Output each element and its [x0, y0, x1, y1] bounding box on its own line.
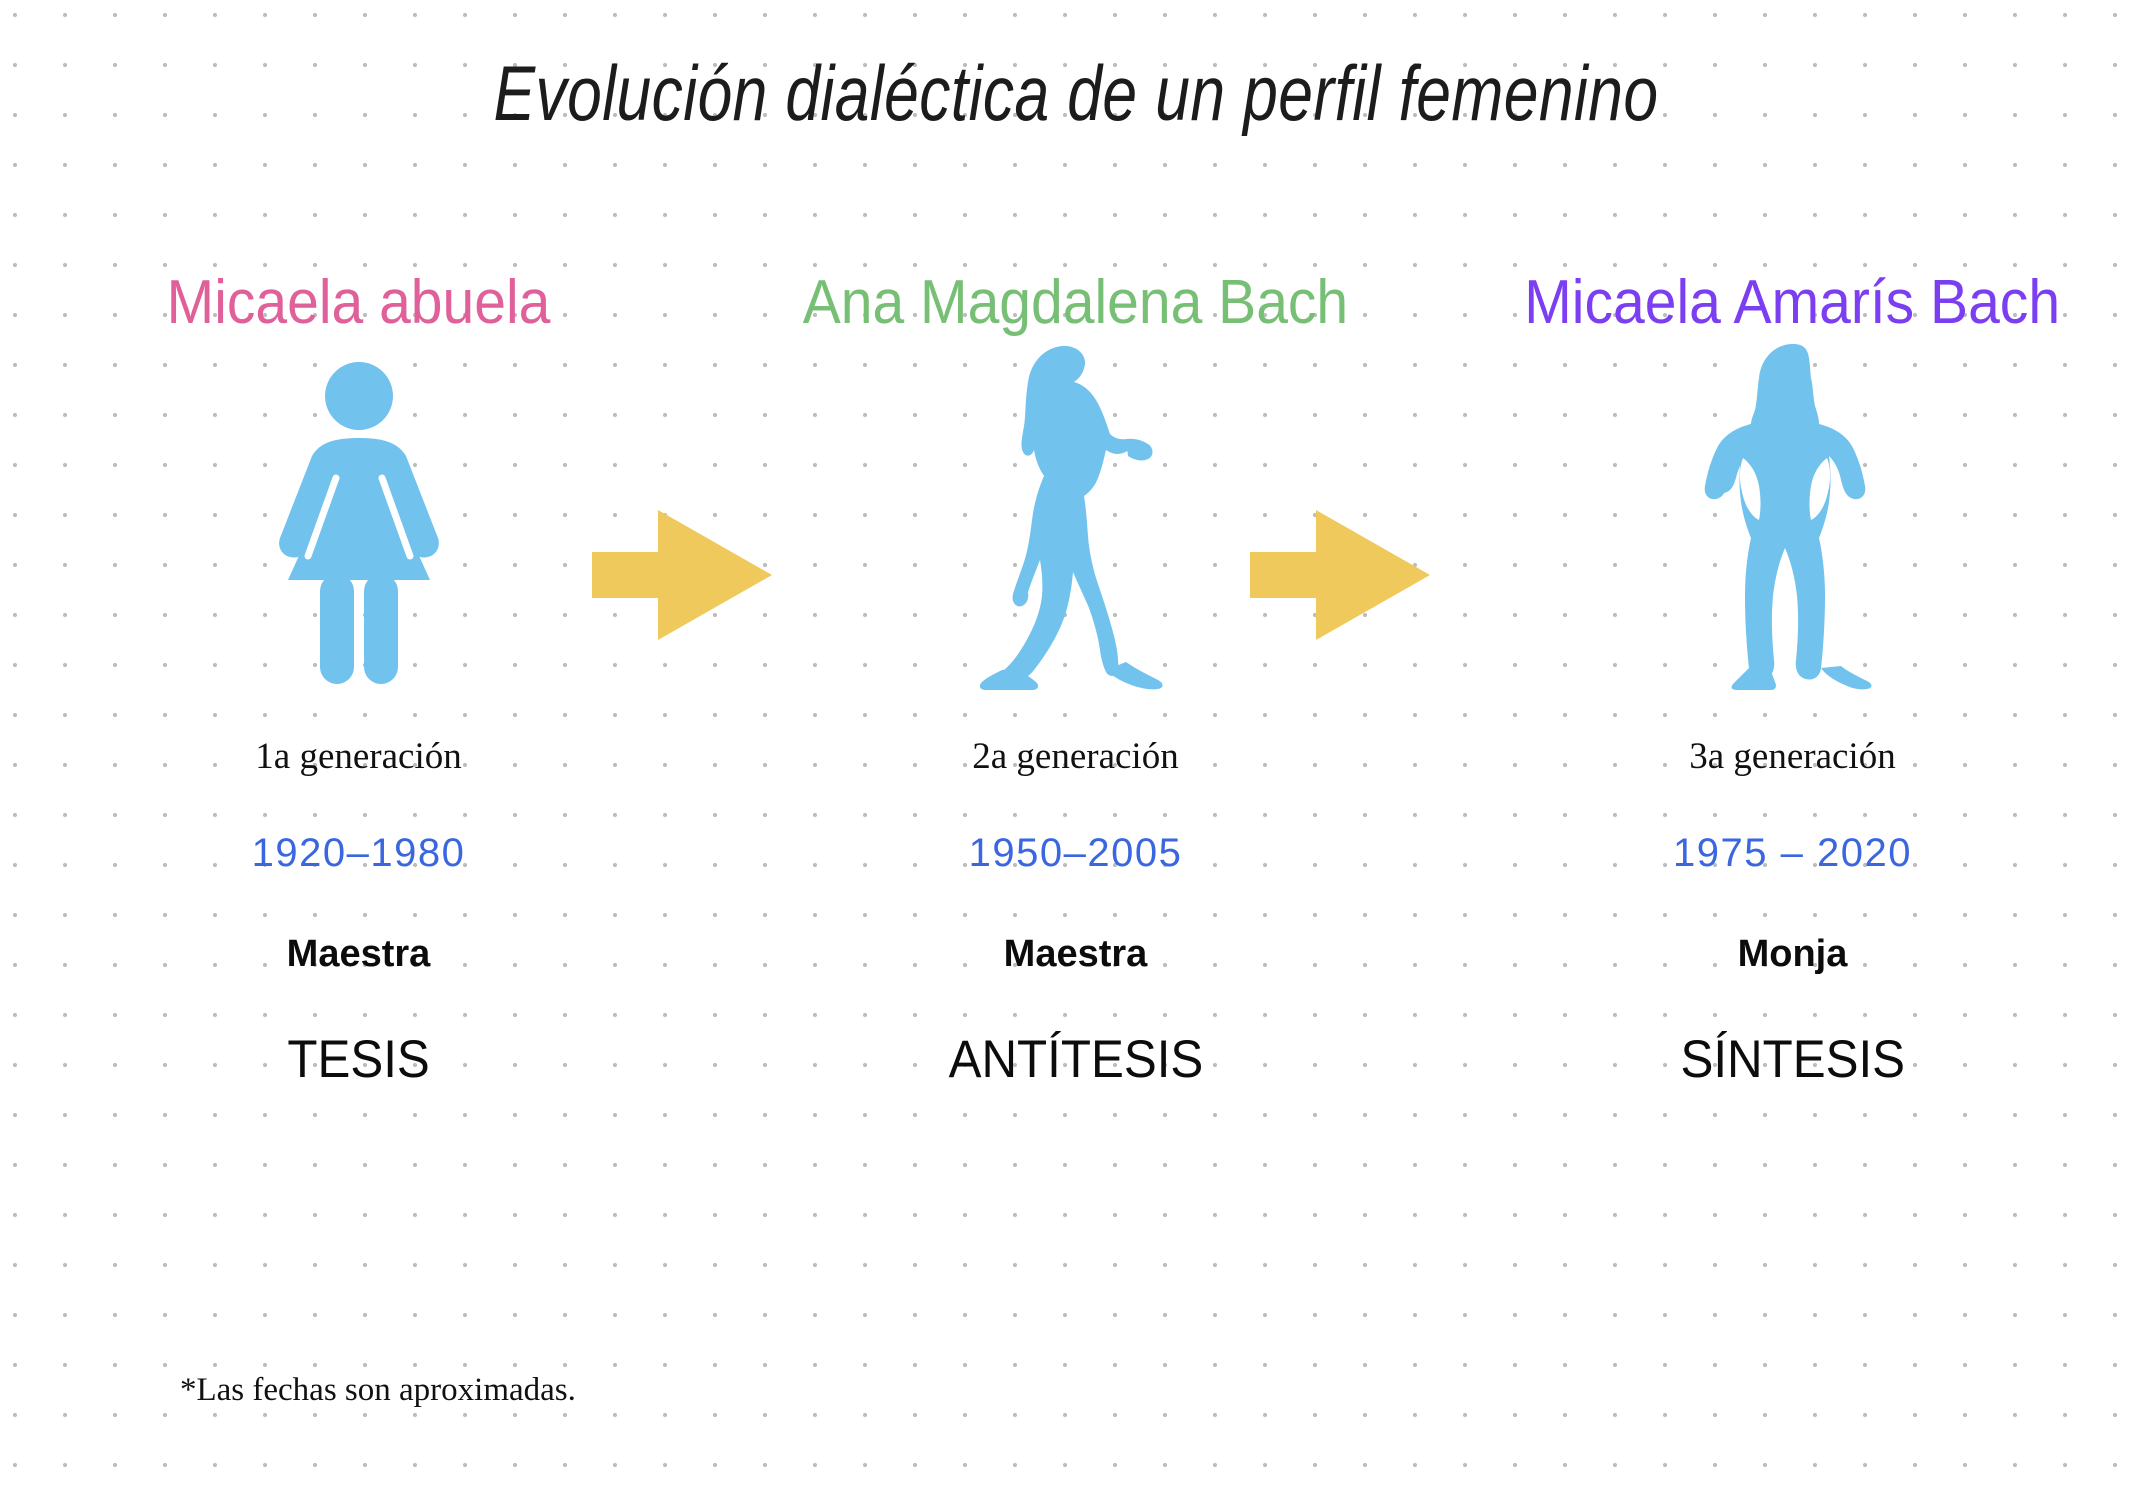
- dialectic-label-2: ANTÍTESIS: [948, 1033, 1203, 1086]
- dialectic-label-3: SÍNTESIS: [1680, 1033, 1905, 1086]
- right-arrow-icon: [592, 510, 772, 640]
- transition-arrow-1: [592, 510, 772, 645]
- meta-block-1: 1a generación 1920–1980 Maestra TESIS: [252, 738, 466, 1086]
- generation-column-1: Micaela abuela 1a generación: [0, 272, 717, 1086]
- transition-arrow-2: [1250, 510, 1430, 645]
- person-name-3: Micaela Amarís Bach: [1525, 272, 2061, 334]
- generation-column-2: Ana Magdalena Bach 2a generación 1950–20…: [717, 272, 1434, 1086]
- dialectic-label-1: TESIS: [287, 1033, 429, 1086]
- right-arrow-icon: [1250, 510, 1430, 640]
- figure-slot-2: [976, 360, 1176, 690]
- occupation-label-1: Maestra: [287, 935, 431, 973]
- occupation-label-2: Maestra: [1004, 935, 1148, 973]
- years-label-3: 1975 – 2020: [1673, 833, 1912, 873]
- figure-slot-3: [1693, 360, 1893, 690]
- generation-label-3: 3a generación: [1689, 738, 1895, 775]
- meta-block-3: 3a generación 1975 – 2020 Monja SÍNTESIS: [1672, 738, 1914, 1086]
- person-name-2: Ana Magdalena Bach: [803, 272, 1348, 334]
- generation-label-1: 1a generación: [255, 738, 461, 775]
- years-label-1: 1920–1980: [252, 833, 466, 873]
- years-label-2: 1950–2005: [969, 833, 1183, 873]
- footnote: *Las fechas son aproximadas.: [180, 1372, 576, 1409]
- figure-slot-1: [244, 360, 474, 690]
- standing-woman-hands-on-hips-silhouette-icon: [1693, 340, 1893, 690]
- infographic-poster: Evolución dialéctica de un perfil femeni…: [0, 0, 2152, 1502]
- person-name-1: Micaela abuela: [167, 272, 551, 334]
- walking-woman-silhouette-icon: [976, 340, 1176, 690]
- standing-woman-dress-pictogram-icon: [244, 360, 474, 690]
- generation-column-3: Micaela Amarís Bach 3a generación 1975 –…: [1434, 272, 2151, 1086]
- page-title: Evolución dialéctica de un perfil femeni…: [215, 48, 1937, 139]
- generations-row: Micaela abuela 1a generación: [0, 272, 2152, 1086]
- occupation-label-3: Monja: [1738, 935, 1848, 973]
- meta-block-2: 2a generación 1950–2005 Maestra ANTÍTESI…: [939, 738, 1213, 1086]
- generation-label-2: 2a generación: [972, 738, 1178, 775]
